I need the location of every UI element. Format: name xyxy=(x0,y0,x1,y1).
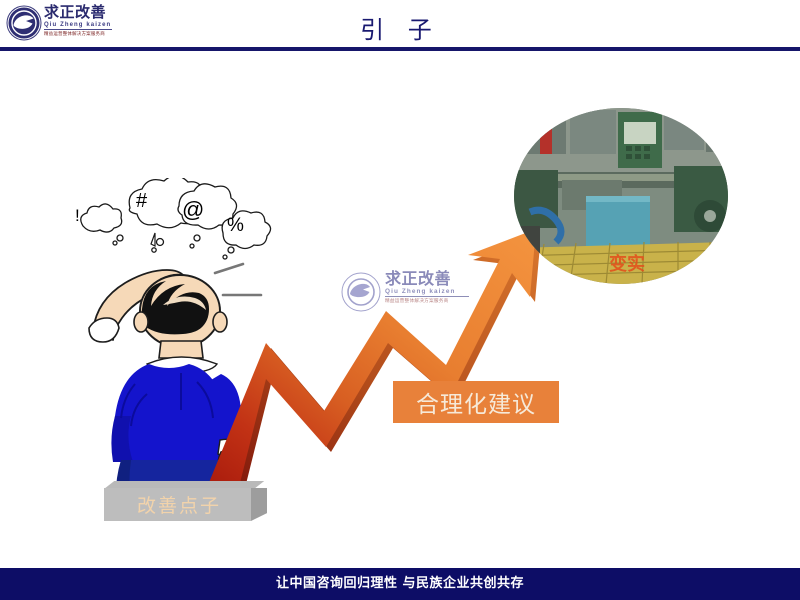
watermark-tagline: 精益运营整体解决方案服务商 xyxy=(385,297,471,304)
header-divider xyxy=(0,47,800,51)
suggestion-callout-box: 合理化建议 xyxy=(393,381,559,423)
watermark-text: 求正改善 Qiu Zheng kaizen 精益运营整体解决方案服务商 xyxy=(385,271,469,304)
watermark-swoosh-circle-logo-icon xyxy=(341,272,381,312)
footer-slogan: 让中国咨询回归理性 与民族企业共创共存 xyxy=(0,572,800,591)
suggestion-callout-label: 合理化建议 xyxy=(416,385,536,419)
factory-machine-photo: 变实 xyxy=(514,108,728,284)
brand-watermark: 求正改善 Qiu Zheng kaizen 精益运营整体解决方案服务商 xyxy=(341,270,469,316)
watermark-name-cn: 求正改善 xyxy=(385,271,469,288)
slide-canvas: 求正改善 Qiu Zheng kaizen 精益运营整体解决方案服务商 引 子 xyxy=(0,0,800,600)
idea-pedestal: 改善点子 xyxy=(104,481,268,523)
page-title: 引 子 xyxy=(0,10,800,45)
pedestal-label: 改善点子 xyxy=(104,491,254,518)
watermark-name-pinyin: Qiu Zheng kaizen xyxy=(385,288,469,297)
photo-caption: 变实 xyxy=(609,250,645,276)
upward-zigzag-growth-arrow xyxy=(200,215,580,495)
